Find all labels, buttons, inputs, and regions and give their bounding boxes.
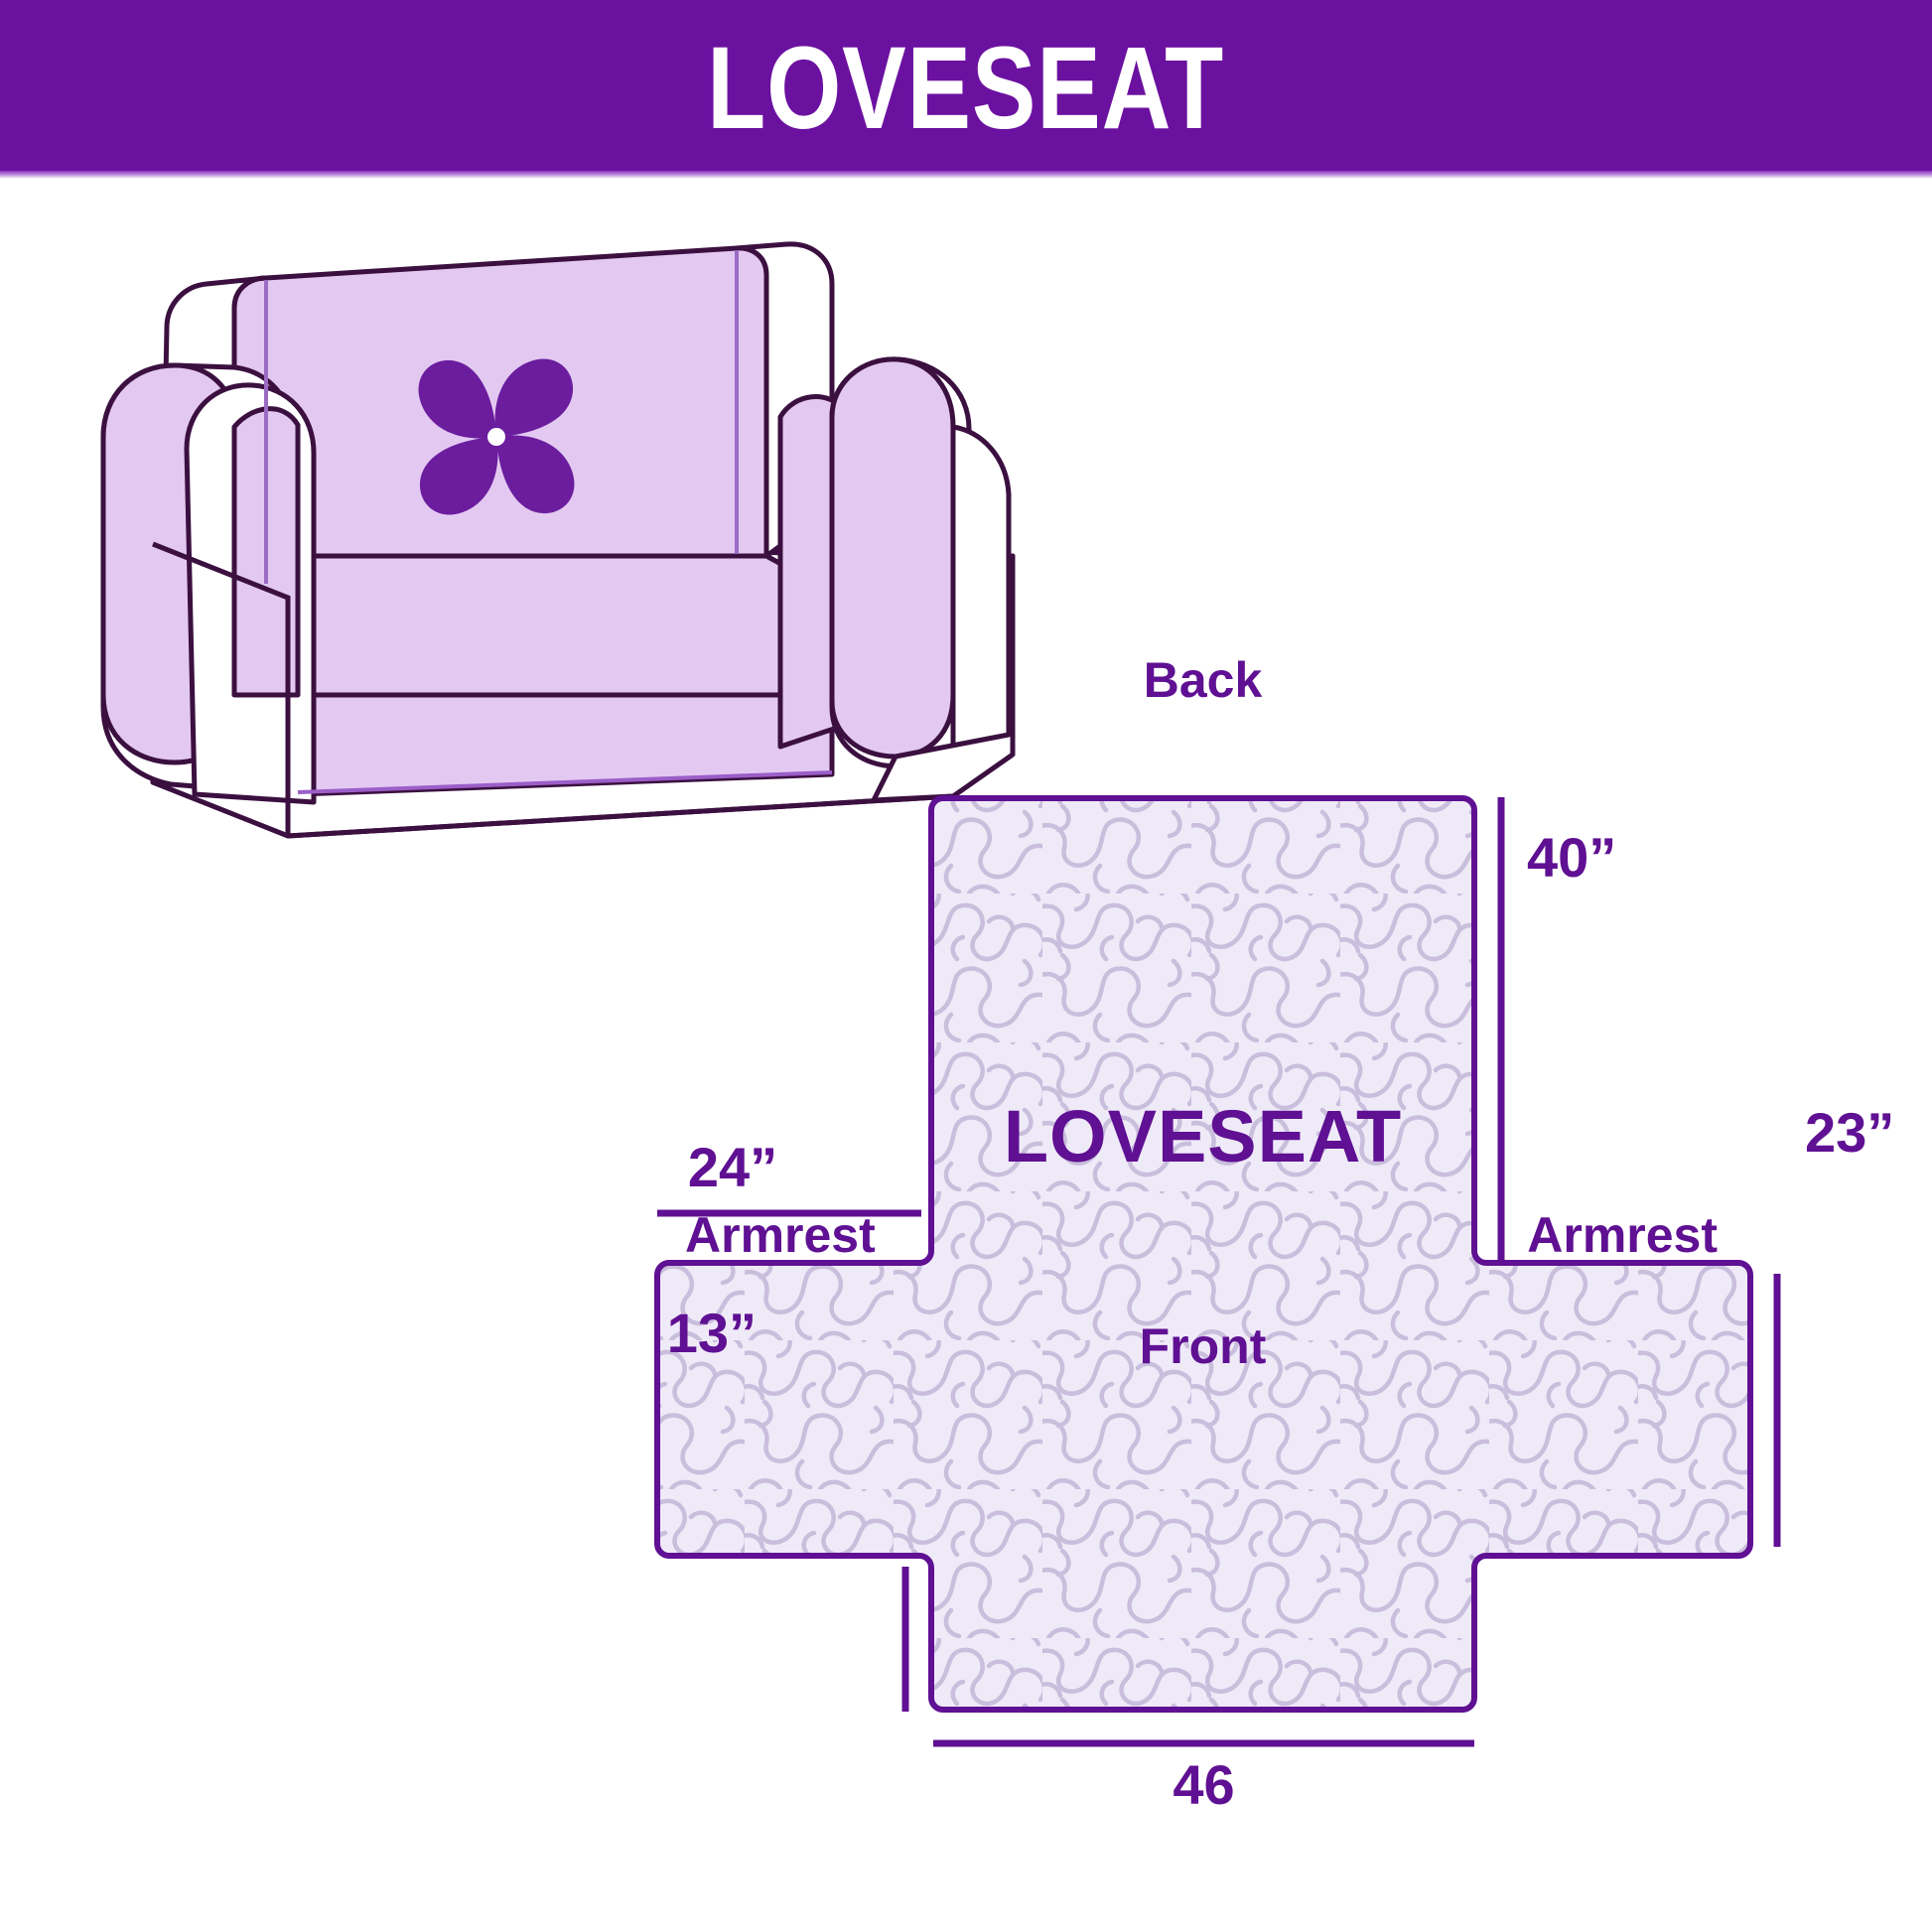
panel-label-center: LOVESEAT <box>931 1100 1474 1173</box>
dimension-label-armrest-width: 24” <box>614 1140 852 1195</box>
panel-label-back: Back <box>931 655 1474 705</box>
dimension-label-front-height: 13” <box>637 1306 757 1361</box>
dimension-label-front-width: 46 <box>933 1757 1474 1813</box>
dimension-lines <box>657 797 1777 1743</box>
diagram-page: LOVESEAT <box>0 0 1932 1932</box>
dimension-label-center-height: 23” <box>1805 1105 1894 1161</box>
panel-label-front: Front <box>931 1321 1474 1371</box>
pinwheel-fan-icon <box>419 359 575 515</box>
panel-label-armrest-right: Armrest <box>1527 1210 1718 1260</box>
dimension-label-back-height: 40” <box>1527 830 1616 886</box>
panel-label-armrest-left: Armrest <box>685 1210 876 1260</box>
banner-underglow <box>0 171 1932 179</box>
header-banner: LOVESEAT <box>0 0 1932 177</box>
page-title: LOVESEAT <box>708 30 1225 147</box>
sofa-illustration <box>0 0 1932 1932</box>
sofa-body <box>103 244 1013 836</box>
